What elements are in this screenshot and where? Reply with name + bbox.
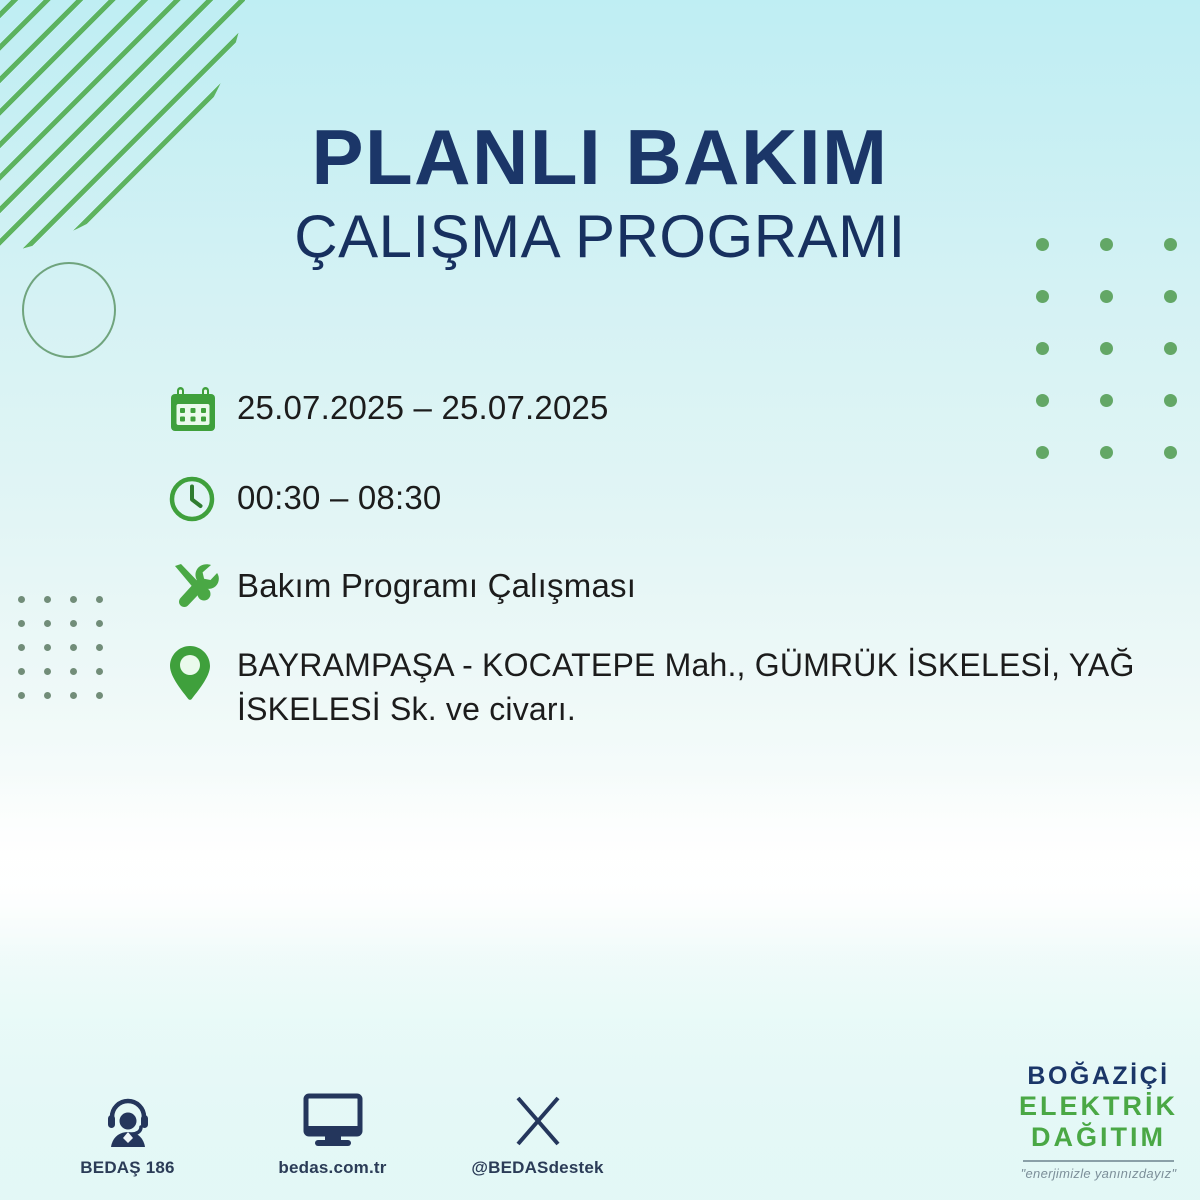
footer-contacts: BEDAŞ 186 bedas.com.tr [60,1087,605,1178]
contact-social[interactable]: @BEDASdestek [470,1087,605,1178]
brand-logo: BOĞAZİÇİ ELEKTRİK DAĞITIM "enerjimizle y… [1019,1064,1178,1180]
location-pin-icon [163,642,237,704]
x-social-icon [470,1087,605,1149]
circle-outline-decoration [22,262,116,358]
headset-support-icon [60,1087,195,1149]
dot-grid-left-decoration [18,596,122,716]
location-text: BAYRAMPAŞA - KOCATEPE Mah., GÜMRÜK İSKEL… [237,642,1153,731]
date-range-text: 25.07.2025 – 25.07.2025 [237,378,609,431]
monitor-icon [265,1087,400,1149]
brand-line-elektrik: ELEKTRİK [1019,1093,1178,1120]
info-row-location: BAYRAMPAŞA - KOCATEPE Mah., GÜMRÜK İSKEL… [163,642,1153,731]
title-sub-text: ÇALIŞMA PROGRAMI [0,204,1200,270]
title-main-text: PLANLI BAKIM [0,118,1200,198]
page-title: PLANLI BAKIM ÇALIŞMA PROGRAMI [0,118,1200,270]
info-row-work-type: Bakım Programı Çalışması [163,556,1153,618]
contact-social-label: @BEDASdestek [470,1158,605,1178]
calendar-icon [163,378,237,440]
brand-divider [1023,1160,1174,1162]
contact-website-label: bedas.com.tr [265,1158,400,1178]
outage-info-list: 25.07.2025 – 25.07.2025 00:30 – 08:30 [163,378,1153,753]
contact-website[interactable]: bedas.com.tr [265,1087,400,1178]
brand-tagline: "enerjimizle yanınızdayız" [1019,1167,1178,1180]
background-wash-mid [0,770,1200,960]
contact-phone-label: BEDAŞ 186 [60,1158,195,1178]
brand-line-dagitim: DAĞITIM [1019,1124,1178,1151]
tools-icon [163,556,237,618]
brand-line-bogazici: BOĞAZİÇİ [1019,1064,1178,1089]
work-type-text: Bakım Programı Çalışması [237,556,636,609]
info-row-time: 00:30 – 08:30 [163,468,1153,530]
contact-phone[interactable]: BEDAŞ 186 [60,1087,195,1178]
time-range-text: 00:30 – 08:30 [237,468,441,521]
clock-icon [163,468,237,530]
poster-canvas: PLANLI BAKIM ÇALIŞMA PROGRAMI [0,0,1200,1200]
info-row-date: 25.07.2025 – 25.07.2025 [163,378,1153,440]
